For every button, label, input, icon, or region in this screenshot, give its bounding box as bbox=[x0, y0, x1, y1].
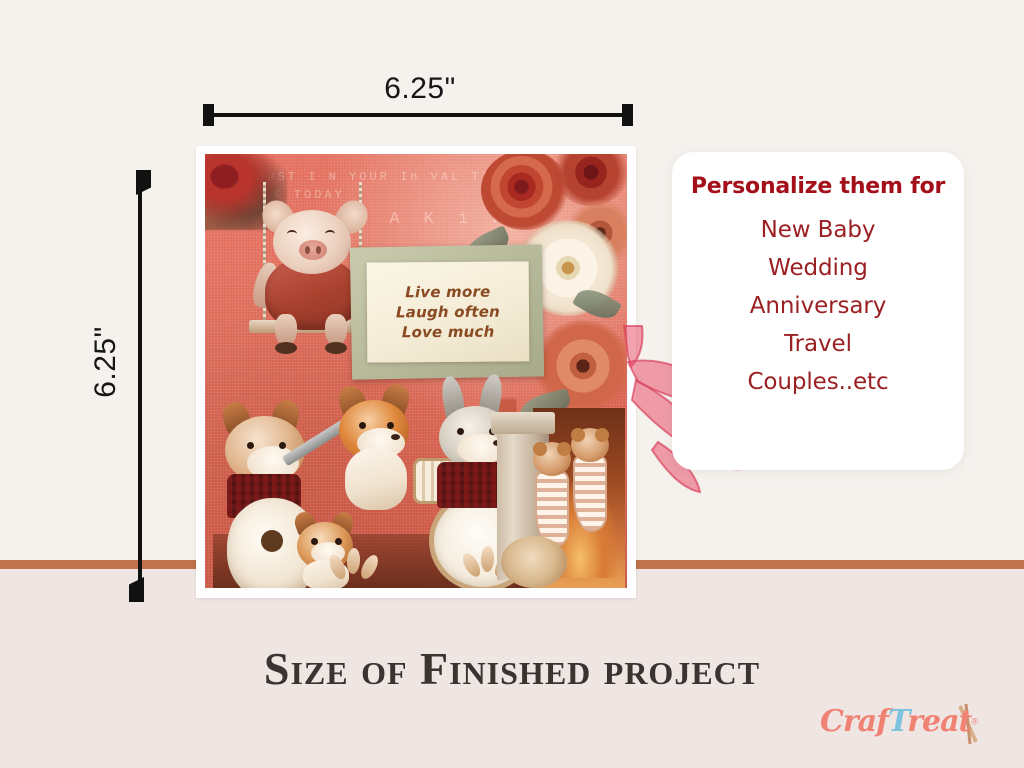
logo-text-t: T bbox=[888, 704, 907, 739]
craftreat-logo[interactable]: CrafTreat® bbox=[820, 700, 998, 748]
quote-line-1: Live more bbox=[405, 282, 490, 301]
pig-hoof bbox=[275, 342, 297, 354]
cub-eye bbox=[335, 538, 342, 545]
logo-text-craf: Craf bbox=[820, 704, 888, 739]
height-dimension-arrow-icon bbox=[129, 170, 151, 602]
product-card-frame[interactable]: TRUST I N YOUR In VAL TION ACK TODAY T A… bbox=[196, 146, 636, 598]
list-item: Travel bbox=[784, 331, 852, 357]
fireplace-scene bbox=[497, 382, 625, 588]
pig-snout bbox=[299, 240, 327, 260]
pig-eye bbox=[325, 230, 335, 234]
quote-line-2: Laugh often bbox=[396, 302, 500, 321]
fox-torso bbox=[345, 448, 407, 510]
bear-ear bbox=[595, 428, 609, 442]
personalize-info-card[interactable]: Personalize them for New Baby Wedding An… bbox=[672, 152, 964, 470]
infographic-canvas: 6.25" 6.25" TRUST I N YOUR In bbox=[0, 0, 1024, 768]
personalize-options-list: New Baby Wedding Anniversary Travel Coup… bbox=[747, 217, 888, 395]
quote-tag: Live more Laugh often Love much bbox=[367, 261, 530, 362]
bear-ear bbox=[533, 442, 547, 456]
fox-eye bbox=[247, 442, 254, 449]
bear-cub-icon bbox=[533, 442, 571, 476]
cub-eye bbox=[311, 538, 318, 545]
pig-eye bbox=[287, 230, 297, 234]
height-dimension-label: 6.25" bbox=[89, 292, 123, 432]
width-dimension-label: 6.25" bbox=[300, 72, 540, 106]
fox-eye bbox=[279, 442, 286, 449]
rabbit-eye bbox=[457, 428, 464, 435]
info-card-title: Personalize them for bbox=[691, 174, 945, 199]
list-item: New Baby bbox=[761, 217, 876, 243]
footer-title: Size of Finished project bbox=[0, 642, 1024, 695]
bear-ear bbox=[571, 428, 585, 442]
list-item: Couples..etc bbox=[747, 369, 888, 395]
product-card-artwork: TRUST I N YOUR In VAL TION ACK TODAY T A… bbox=[205, 154, 627, 588]
list-item: Wedding bbox=[768, 255, 868, 281]
pinecone-flower-icon bbox=[501, 536, 567, 588]
bear-ear bbox=[557, 442, 571, 456]
quote-line-3: Love much bbox=[402, 323, 495, 342]
fox-eye bbox=[359, 422, 366, 429]
fox-eye bbox=[387, 422, 394, 429]
logo-trademark: ® bbox=[971, 717, 978, 727]
animal-band bbox=[213, 376, 543, 588]
bear-cub-icon bbox=[571, 428, 609, 462]
quote-tag-mat: Live more Laugh often Love much bbox=[350, 244, 544, 379]
logo-text-reat: reat bbox=[907, 704, 971, 739]
knitted-stocking-icon bbox=[573, 454, 607, 532]
width-dimension-arrow-icon bbox=[203, 104, 633, 126]
fox-nose bbox=[391, 434, 400, 440]
pig-hoof bbox=[325, 342, 347, 354]
guitar-soundhole bbox=[261, 530, 283, 552]
column-capital bbox=[491, 412, 555, 434]
list-item: Anniversary bbox=[750, 293, 887, 319]
